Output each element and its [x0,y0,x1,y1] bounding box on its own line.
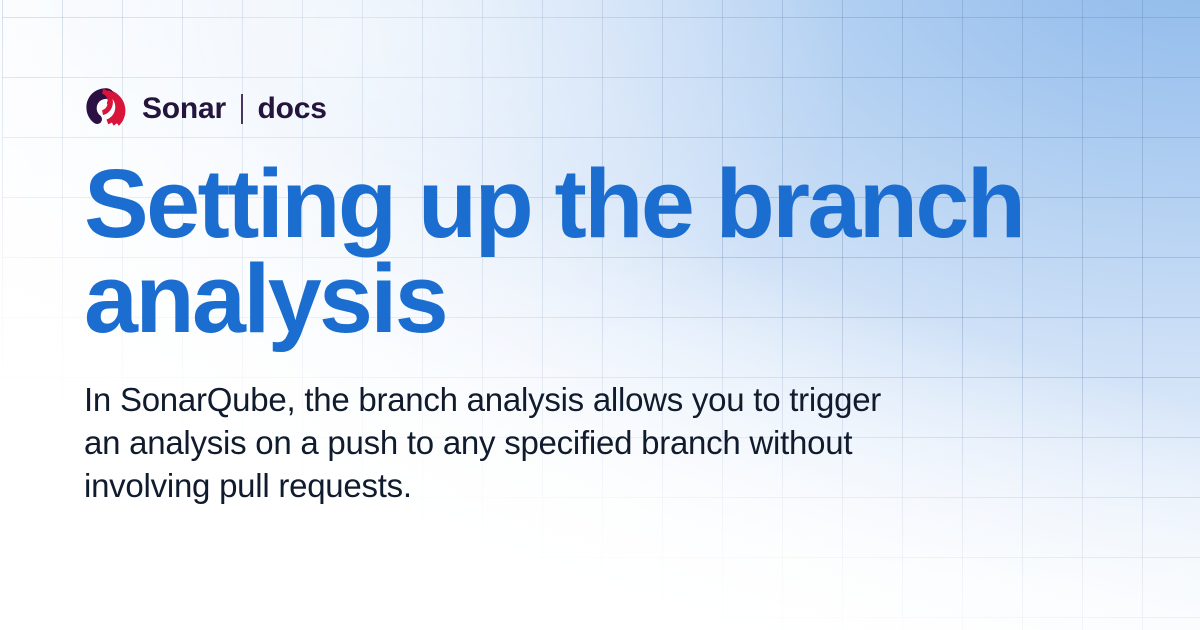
content-column: Sonar docs Setting up the branch analysi… [84,0,1144,630]
brand-divider [241,94,243,124]
page-description: In SonarQube, the branch analysis allows… [84,379,884,508]
brand-product: docs [258,94,327,124]
brand-name: Sonar [142,94,226,124]
brand-lockup[interactable]: Sonar docs [84,86,327,132]
brand-wordmark: Sonar docs [142,94,327,124]
og-card: Sonar docs Setting up the branch analysi… [0,0,1200,630]
page-title: Setting up the branch analysis [84,156,1064,346]
sonar-logo-icon [84,87,128,131]
